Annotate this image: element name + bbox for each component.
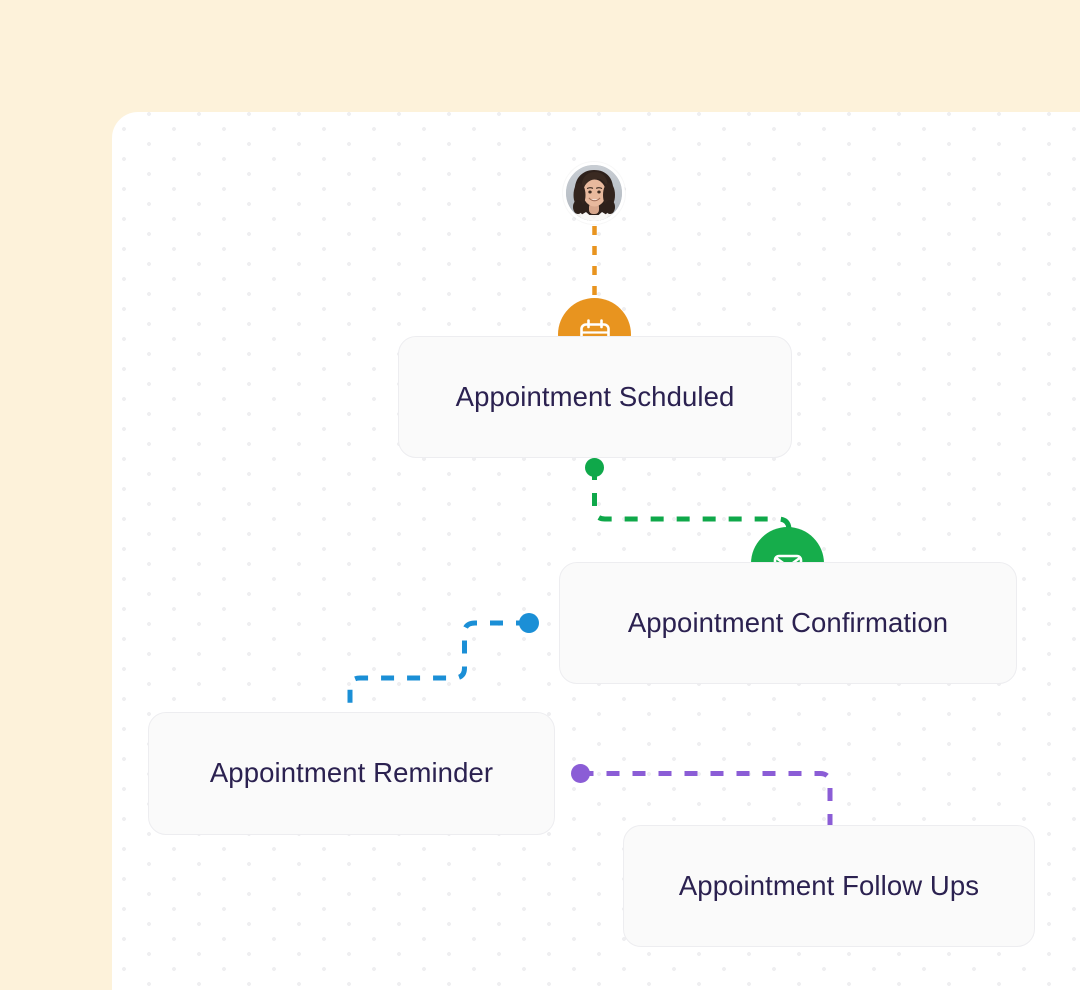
user-avatar-photo bbox=[566, 165, 622, 221]
green-endpoint-dot[interactable] bbox=[585, 458, 604, 477]
screen-root: Appointment Schduled Appointment Confirm… bbox=[0, 0, 1080, 990]
node-title-followups: Appointment Follow Ups bbox=[679, 871, 979, 901]
blue-endpoint-dot[interactable] bbox=[519, 613, 539, 633]
purple-endpoint-dot[interactable] bbox=[571, 764, 590, 783]
node-card-confirmation[interactable]: Appointment Confirmation bbox=[559, 562, 1017, 684]
node-title-scheduled: Appointment Schduled bbox=[456, 382, 735, 412]
node-card-scheduled[interactable]: Appointment Schduled bbox=[398, 336, 792, 458]
node-title-reminder: Appointment Reminder bbox=[210, 758, 493, 788]
node-card-followups[interactable]: Appointment Follow Ups bbox=[623, 825, 1035, 947]
avatar[interactable] bbox=[563, 162, 625, 224]
node-title-confirmation: Appointment Confirmation bbox=[628, 608, 948, 638]
node-card-reminder[interactable]: Appointment Reminder bbox=[148, 712, 555, 835]
